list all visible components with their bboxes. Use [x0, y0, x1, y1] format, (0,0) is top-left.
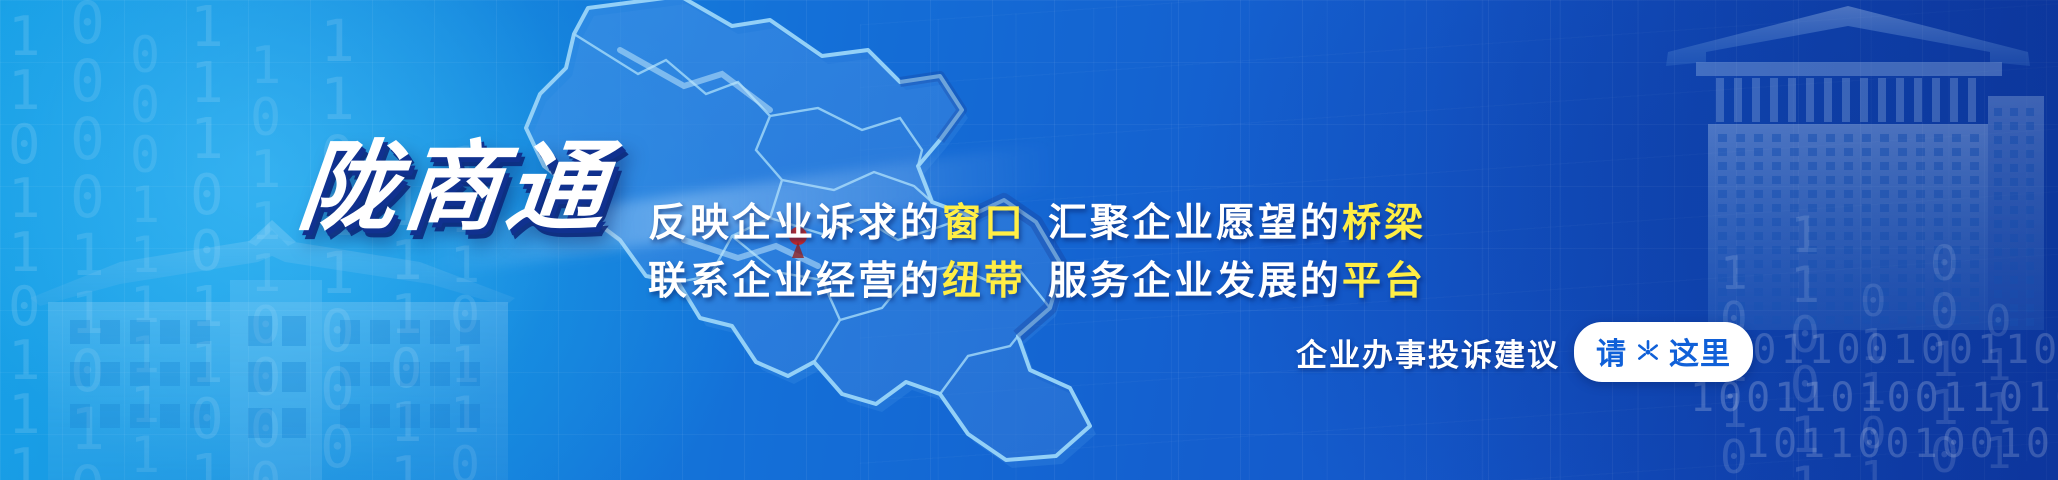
slogan-l1-highlight2: 桥梁	[1342, 201, 1426, 246]
slogan-l1-part2: 汇聚企业愿望的	[1048, 201, 1342, 246]
slogan-l1-part1: 反映企业诉求的	[648, 201, 942, 246]
slogan-line-2: 联系企业经营的纽带服务企业发展的平台	[648, 250, 1426, 306]
click-here-prefix: 请	[1596, 329, 1627, 373]
brand-title: 陇商通	[293, 108, 620, 250]
click-sparkle-icon	[1635, 338, 1661, 364]
slogan-l1-highlight1: 窗口	[942, 201, 1026, 246]
click-here-suffix: 这里	[1669, 329, 1731, 373]
banner-content: 陇商通 反映企业诉求的窗口汇聚企业愿望的桥梁 联系企业经营的纽带服务企业发展的平…	[0, 0, 2058, 480]
cta-label: 企业办事投诉建议	[1296, 330, 1560, 375]
slogan-l2-part1: 联系企业经营的	[648, 259, 942, 304]
slogan-l2-highlight2: 平台	[1342, 259, 1426, 304]
slogan-l2-part2: 服务企业发展的	[1048, 259, 1342, 304]
slogan-line-1: 反映企业诉求的窗口汇聚企业愿望的桥梁	[648, 192, 1426, 248]
click-here-button[interactable]: 请 这里	[1574, 322, 1753, 382]
lonshangtong-banner: 1 1 0 1 1 0 1 1 10 0 0 0 1 1 0 1 00 0 0 …	[0, 0, 2058, 480]
cta-row: 企业办事投诉建议 请 这里	[1296, 322, 1753, 382]
slogan-l2-highlight1: 纽带	[942, 259, 1026, 304]
